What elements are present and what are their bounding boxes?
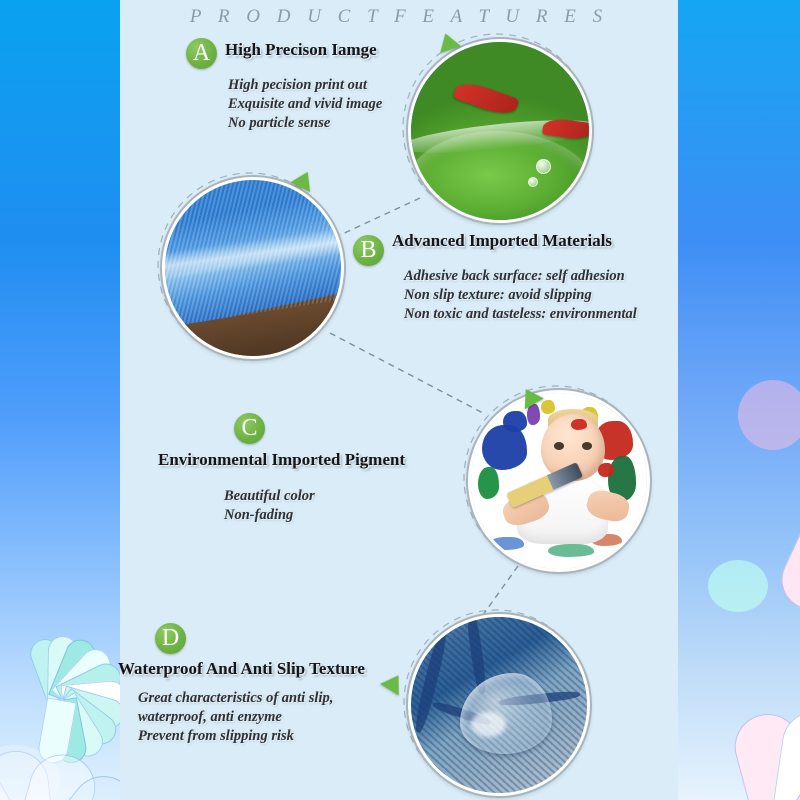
page-title: P R O D U C T F E A T U R E S [120, 6, 678, 28]
feature-body-d: Great characteristics of anti slip, wate… [138, 689, 333, 746]
feature-line: waterproof, anti enzyme [138, 708, 333, 727]
feature-line: Non-fading [224, 506, 315, 525]
feature-line: Prevent from slipping risk [138, 727, 333, 746]
feature-image-c [468, 390, 650, 572]
feature-line: No particle sense [228, 114, 382, 133]
feature-line: High pecision print out [228, 76, 382, 95]
feature-line: Non slip texture: avoid slipping [404, 286, 637, 305]
baby-with-paint-photo [471, 393, 647, 569]
feature-body-b: Adhesive back surface: self adhesion Non… [404, 267, 637, 324]
feature-line: Non toxic and tasteless: environmental [404, 305, 637, 324]
feature-line: Exquisite and vivid image [228, 95, 382, 114]
flower-petal [772, 467, 800, 619]
blue-ribbed-fabric-photo [165, 180, 341, 356]
feature-line: Adhesive back surface: self adhesion [404, 267, 637, 286]
feature-image-a [408, 39, 592, 223]
feature-body-a: High pecision print out Exquisite and vi… [228, 76, 382, 133]
feature-image-b [162, 177, 344, 359]
feature-line: Beautiful color [224, 487, 315, 506]
feature-heading-b: Advanced Imported Materials [392, 231, 612, 251]
right-decor-strip [678, 0, 800, 800]
feature-line: Great characteristics of anti slip, [138, 689, 333, 708]
decor-blob [738, 380, 800, 450]
feature-badge-d: D [155, 623, 186, 654]
feature-image-d [408, 614, 590, 796]
infographic-stage: P R O D U C T F E A T U R E S [0, 0, 800, 800]
decor-blob [708, 560, 768, 612]
feature-body-c: Beautiful color Non-fading [224, 487, 315, 525]
feature-badge-c: C [234, 413, 265, 444]
feature-badge-b: B [353, 235, 384, 266]
feature-heading-a: High Precison Iamge [225, 40, 377, 60]
left-decor-strip [0, 0, 120, 800]
feature-badge-a: A [186, 38, 217, 69]
koi-fish-pond-photo [411, 42, 589, 220]
water-droplet-texture-photo [411, 617, 587, 793]
feature-heading-c: Environmental Imported Pigment [158, 450, 405, 470]
feature-heading-d: Waterproof And Anti Slip Texture [118, 659, 365, 679]
